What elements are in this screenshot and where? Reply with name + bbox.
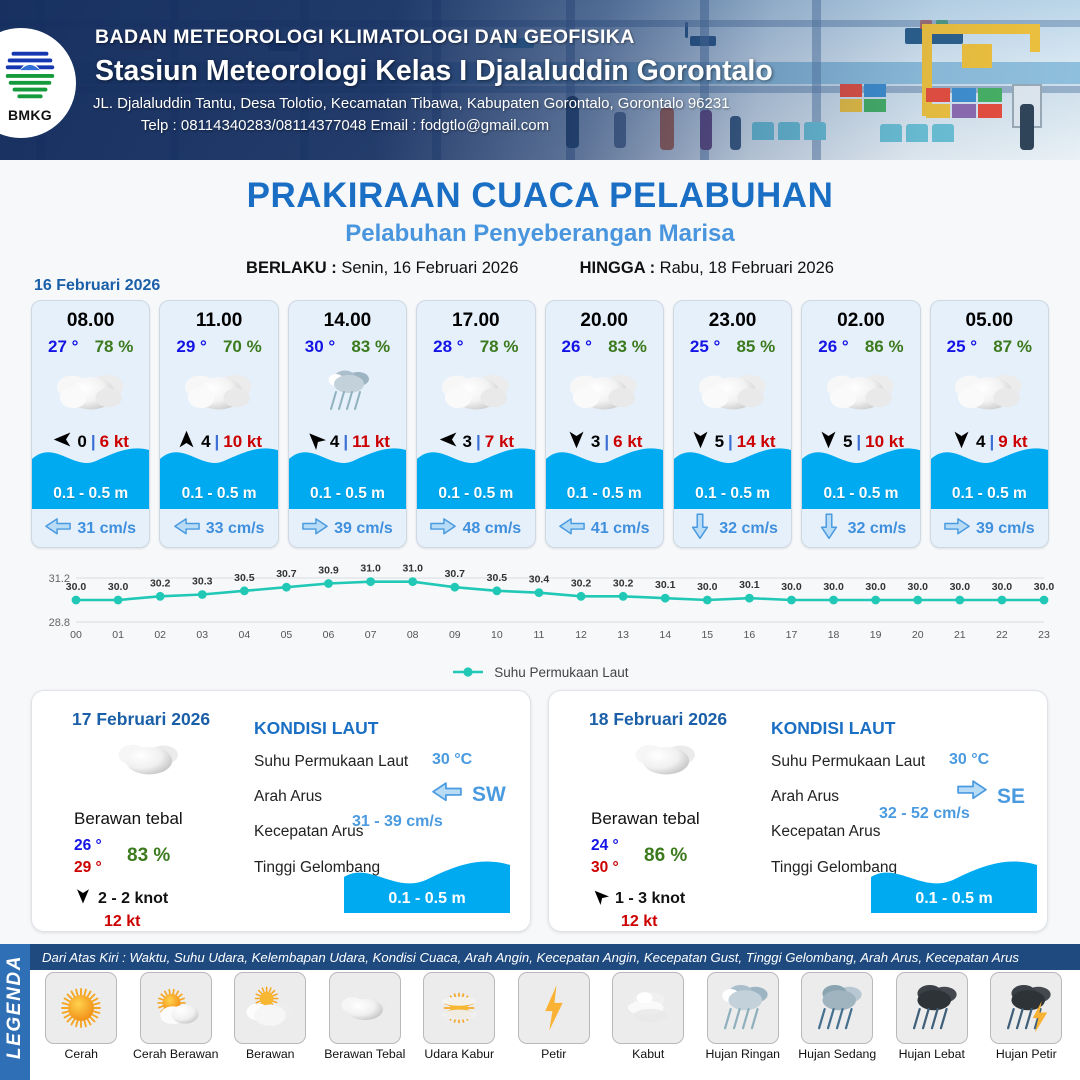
legend-item-label: Hujan Lebat (899, 1047, 965, 1061)
svg-text:30.0: 30.0 (992, 581, 1013, 593)
valid-from-value: Senin, 16 Februari 2026 (341, 259, 518, 277)
legend-band: Dari Atas Kiri : Waktu, Suhu Udara, Kele… (0, 944, 1080, 1080)
card-current-row: 39 cm/s (289, 517, 406, 541)
sea-conditions-header: KONDISI LAUT (771, 718, 895, 739)
page-header: BMKG BADAN METEOROLOGI KLIMATOLOGI DAN G… (0, 0, 1080, 160)
svg-text:30.0: 30.0 (1034, 581, 1054, 593)
panel-temp-max: 30 ° (591, 859, 619, 877)
title-block: PRAKIRAAN CUACA PELABUHAN Pelabuhan Peny… (0, 176, 1080, 278)
panel-wind-range: 2 - 2 knot (98, 890, 168, 908)
forecast-card: 17.00 28 ° 78 % 3 | 7 kt 0.1 - 0.5 m (416, 300, 535, 548)
svg-text:16: 16 (744, 629, 756, 641)
station-contact: Telp : 08114340283/08114377048 Email : f… (35, 117, 655, 134)
sst-label: Suhu Permukaan Laut (254, 753, 408, 771)
forecast-card: 14.00 30 ° 83 % 4 | 11 kt 0.1 - 0.5 m (288, 300, 407, 548)
card-time: 20.00 (546, 310, 663, 332)
chart-legend-label: Suhu Permukaan Laut (494, 665, 628, 680)
wave-graphic: 0.1 - 0.5 m (546, 437, 663, 509)
svg-text:30.4: 30.4 (529, 574, 550, 586)
svg-text:30.2: 30.2 (571, 577, 592, 589)
card-temperature: 28 ° (433, 337, 463, 357)
card-humidity: 87 % (993, 337, 1032, 357)
forecast-card: 05.00 25 ° 87 % 4 | 9 kt 0.1 - 0.5 m (930, 300, 1049, 548)
legend-item: Hujan Lebat (885, 972, 980, 1080)
card-time: 02.00 (802, 310, 919, 332)
svg-text:02: 02 (154, 629, 166, 641)
wind-direction-arrow-icon (74, 887, 92, 910)
chart-legend-marker (451, 666, 485, 681)
page-title: PRAKIRAAN CUACA PELABUHAN (0, 176, 1080, 216)
svg-text:30.0: 30.0 (108, 581, 129, 593)
day-summary-panel: 17 Februari 2026 Berawan tebal 26 ° 29 °… (31, 690, 531, 932)
card-current-row: 32 cm/s (802, 517, 919, 541)
cloudy-icon (546, 364, 663, 418)
svg-text:30.9: 30.9 (318, 565, 339, 577)
svg-text:30.3: 30.3 (192, 576, 213, 588)
legend-item-label: Udara Kabur (424, 1047, 494, 1061)
svg-text:30.7: 30.7 (445, 568, 466, 580)
card-current-speed: 33 cm/s (206, 520, 265, 538)
card-temperature: 26 ° (818, 337, 848, 357)
svg-text:23: 23 (1038, 629, 1050, 641)
card-time: 05.00 (931, 310, 1048, 332)
card-current-speed: 31 cm/s (77, 520, 136, 538)
svg-text:13: 13 (617, 629, 629, 641)
day-summary-panel: 18 Februari 2026 Berawan tebal 24 ° 30 °… (548, 690, 1048, 932)
legend-item-label: Petir (541, 1047, 566, 1061)
legend-item: Hujan Sedang (790, 972, 885, 1080)
legend-item-row: Cerah Cerah Berawan Berawan Berawan Teba… (34, 972, 1074, 1080)
svg-text:30.0: 30.0 (865, 581, 886, 593)
forecast-card: 08.00 27 ° 78 % 0 | 6 kt 0.1 - 0.5 m (31, 300, 150, 548)
panel-wind-row: 2 - 2 knot (74, 887, 168, 910)
wave-graphic: 0.1 - 0.5 m (32, 437, 149, 509)
legend-item-label: Kabut (632, 1047, 664, 1061)
panel-humidity: 83 % (127, 845, 170, 867)
current-direction-value: SE (997, 785, 1025, 809)
forecast-day-label: 16 Februari 2026 (34, 277, 160, 295)
current-direction-arrow-icon (302, 517, 328, 541)
card-humidity: 85 % (736, 337, 775, 357)
card-current-row: 31 cm/s (32, 517, 149, 541)
card-wave-height: 0.1 - 0.5 m (674, 485, 791, 503)
current-direction-arrow-icon (944, 517, 970, 541)
rain-light-icon (707, 972, 779, 1044)
current-direction-arrow-icon (174, 517, 200, 541)
svg-text:30.2: 30.2 (150, 577, 171, 589)
lightning-icon (518, 972, 590, 1044)
svg-text:30.2: 30.2 (613, 577, 634, 589)
sea-conditions-header: KONDISI LAUT (254, 718, 378, 739)
svg-text:00: 00 (70, 629, 82, 641)
current-speed-label: Kecepatan Arus (254, 823, 363, 841)
cloud-sun-partial-icon (234, 972, 306, 1044)
svg-text:15: 15 (701, 629, 713, 641)
cloudy-icon (802, 364, 919, 418)
svg-text:21: 21 (954, 629, 966, 641)
panel-gust: 12 kt (104, 913, 140, 931)
svg-text:28.8: 28.8 (49, 617, 70, 629)
legend-item-label: Berawan Tebal (324, 1047, 405, 1061)
current-speed-value: 32 - 52 cm/s (879, 805, 970, 823)
card-time: 17.00 (417, 310, 534, 332)
svg-text:17: 17 (786, 629, 798, 641)
sun-icon (45, 972, 117, 1044)
valid-until-label: HINGGA : (580, 259, 655, 277)
svg-text:04: 04 (239, 629, 251, 641)
legend-item: Petir (507, 972, 602, 1080)
forecast-card-row: 08.00 27 ° 78 % 0 | 6 kt 0.1 - 0.5 m (31, 300, 1049, 548)
cloudy-icon (674, 364, 791, 418)
svg-text:05: 05 (281, 629, 293, 641)
svg-text:11: 11 (534, 629, 545, 641)
legend-item-label: Hujan Sedang (798, 1047, 876, 1061)
card-current-speed: 39 cm/s (334, 520, 393, 538)
svg-text:30.0: 30.0 (781, 581, 802, 593)
svg-text:30.1: 30.1 (739, 579, 760, 591)
wind-direction-arrow-icon (591, 887, 609, 910)
card-temperature: 25 ° (947, 337, 977, 357)
card-current-speed: 39 cm/s (976, 520, 1035, 538)
fog-icon (612, 972, 684, 1044)
svg-text:03: 03 (196, 629, 208, 641)
card-humidity: 86 % (865, 337, 904, 357)
card-wave-height: 0.1 - 0.5 m (289, 485, 406, 503)
cloudy-icon (417, 364, 534, 418)
current-direction-arrow-icon (957, 779, 987, 805)
card-temperature: 26 ° (562, 337, 592, 357)
current-direction-arrow-icon (687, 517, 713, 541)
panel-date: 18 Februari 2026 (589, 709, 727, 730)
svg-text:18: 18 (828, 629, 840, 641)
card-temperature: 29 ° (176, 337, 206, 357)
legend-item-label: Hujan Ringan (705, 1047, 780, 1061)
card-current-row: 39 cm/s (931, 517, 1048, 541)
legend-item-label: Hujan Petir (996, 1047, 1057, 1061)
card-wave-height: 0.1 - 0.5 m (160, 485, 277, 503)
svg-text:19: 19 (870, 629, 882, 641)
validity-row: BERLAKU : Senin, 16 Februari 2026 HINGGA… (0, 259, 1080, 278)
cloudy-thick-icon (627, 739, 705, 783)
sst-label: Suhu Permukaan Laut (771, 753, 925, 771)
current-direction-arrow-icon (559, 517, 585, 541)
card-humidity: 83 % (351, 337, 390, 357)
rain-heavy-icon (896, 972, 968, 1044)
rain-light-icon (289, 364, 406, 418)
wave-graphic: 0.1 - 0.5 m (674, 437, 791, 509)
thunderstorm-icon (990, 972, 1062, 1044)
card-temperature: 27 ° (48, 337, 78, 357)
panel-condition: Berawan tebal (591, 809, 700, 829)
wave-graphic: 0.1 - 0.5 m (802, 437, 919, 509)
cloudy-thick-icon (110, 739, 188, 783)
svg-text:01: 01 (112, 629, 124, 641)
bmkg-logo-mark (0, 44, 61, 106)
current-direction-arrow-icon (45, 517, 71, 541)
card-wave-height: 0.1 - 0.5 m (32, 485, 149, 503)
card-humidity: 78 % (95, 337, 134, 357)
legend-item: Udara Kabur (412, 972, 507, 1080)
panel-wave-value: 0.1 - 0.5 m (344, 890, 510, 908)
cloudy-icon (931, 364, 1048, 418)
svg-text:08: 08 (407, 629, 419, 641)
legend-item: Berawan Tebal (318, 972, 413, 1080)
card-humidity: 83 % (608, 337, 647, 357)
card-time: 08.00 (32, 310, 149, 332)
sst-line-chart: 31.2 28.8 30.030.030.230.330.530.730.931… (28, 560, 1054, 660)
svg-text:30.7: 30.7 (276, 568, 297, 580)
current-direction-label: Arah Arus (771, 788, 839, 806)
panel-wind-range: 1 - 3 knot (615, 890, 685, 908)
forecast-card: 23.00 25 ° 85 % 5 | 14 kt 0.1 - 0.5 m (673, 300, 792, 548)
cloudy-icon (32, 364, 149, 418)
page-subtitle: Pelabuhan Penyeberangan Marisa (0, 220, 1080, 248)
current-direction-arrow-icon (430, 517, 456, 541)
valid-from-label: BERLAKU : (246, 259, 337, 277)
panel-temp-max: 29 ° (74, 859, 102, 877)
svg-text:30.0: 30.0 (950, 581, 971, 593)
svg-text:30.0: 30.0 (697, 581, 718, 593)
panel-wave-graphic: 0.1 - 0.5 m (871, 855, 1037, 913)
sun-cloud-icon (140, 972, 212, 1044)
card-humidity: 78 % (480, 337, 519, 357)
current-direction-label: Arah Arus (254, 788, 322, 806)
card-current-row: 33 cm/s (160, 517, 277, 541)
haze-icon (423, 972, 495, 1044)
svg-text:09: 09 (449, 629, 461, 641)
panel-condition: Berawan tebal (74, 809, 183, 829)
panel-wave-graphic: 0.1 - 0.5 m (344, 855, 510, 913)
card-temperature: 25 ° (690, 337, 720, 357)
card-time: 23.00 (674, 310, 791, 332)
card-humidity: 70 % (223, 337, 262, 357)
card-current-speed: 32 cm/s (848, 520, 907, 538)
rain-moderate-icon (801, 972, 873, 1044)
svg-text:20: 20 (912, 629, 924, 641)
card-current-row: 48 cm/s (417, 517, 534, 541)
legend-item: Hujan Ringan (696, 972, 791, 1080)
panel-temp-min: 26 ° (74, 837, 102, 855)
current-direction-arrow-icon (816, 517, 842, 541)
panel-date: 17 Februari 2026 (72, 709, 210, 730)
legend-caption: Dari Atas Kiri : Waktu, Suhu Udara, Kele… (30, 944, 1080, 970)
card-current-speed: 32 cm/s (719, 520, 778, 538)
wave-graphic: 0.1 - 0.5 m (931, 437, 1048, 509)
forecast-card: 20.00 26 ° 83 % 3 | 6 kt 0.1 - 0.5 m (545, 300, 664, 548)
card-time: 11.00 (160, 310, 277, 332)
legend-item-label: Berawan (246, 1047, 295, 1061)
sst-value: 30 °C (432, 751, 472, 769)
panel-wind-row: 1 - 3 knot (591, 887, 685, 910)
agency-name: BADAN METEOROLOGI KLIMATOLOGI DAN GEOFIS… (95, 26, 773, 49)
svg-text:22: 22 (996, 629, 1008, 641)
sst-value: 30 °C (949, 751, 989, 769)
forecast-card: 11.00 29 ° 70 % 4 | 10 kt 0.1 - 0.5 m (159, 300, 278, 548)
svg-text:30.1: 30.1 (655, 579, 676, 591)
legend-item: Cerah Berawan (129, 972, 224, 1080)
svg-text:30.0: 30.0 (823, 581, 844, 593)
station-address: JL. Djalaluddin Tantu, Desa Tolotio, Kec… (93, 95, 773, 112)
legend-item: Hujan Petir (979, 972, 1074, 1080)
header-text-block: BADAN METEOROLOGI KLIMATOLOGI DAN GEOFIS… (95, 26, 773, 134)
legend-item: Kabut (601, 972, 696, 1080)
card-wave-height: 0.1 - 0.5 m (802, 485, 919, 503)
legend-item: Cerah (34, 972, 129, 1080)
panel-gust: 12 kt (621, 913, 657, 931)
legend-item: Berawan (223, 972, 318, 1080)
current-speed-value: 31 - 39 cm/s (352, 813, 443, 831)
cloudy-icon (160, 364, 277, 418)
card-wave-height: 0.1 - 0.5 m (546, 485, 663, 503)
card-current-row: 32 cm/s (674, 517, 791, 541)
panel-temp-min: 24 ° (591, 837, 619, 855)
sst-chart: 31.2 28.8 30.030.030.230.330.530.730.931… (28, 560, 1054, 660)
card-time: 14.00 (289, 310, 406, 332)
svg-text:12: 12 (575, 629, 587, 641)
wave-graphic: 0.1 - 0.5 m (160, 437, 277, 509)
svg-text:30.5: 30.5 (234, 572, 255, 584)
svg-text:06: 06 (323, 629, 335, 641)
current-direction-value: SW (472, 783, 506, 807)
card-current-speed: 48 cm/s (462, 520, 521, 538)
legend-item-label: Cerah Berawan (133, 1047, 218, 1061)
current-direction-arrow-icon (432, 781, 462, 807)
forecast-card: 02.00 26 ° 86 % 5 | 10 kt 0.1 - 0.5 m (801, 300, 920, 548)
panel-humidity: 86 % (644, 845, 687, 867)
legend-item-label: Cerah (65, 1047, 99, 1061)
svg-text:30.0: 30.0 (66, 581, 87, 593)
svg-text:14: 14 (659, 629, 671, 641)
wave-graphic: 0.1 - 0.5 m (417, 437, 534, 509)
valid-until-value: Rabu, 18 Februari 2026 (660, 259, 834, 277)
panel-wave-value: 0.1 - 0.5 m (871, 890, 1037, 908)
card-wave-height: 0.1 - 0.5 m (931, 485, 1048, 503)
svg-text:30.0: 30.0 (908, 581, 929, 593)
card-wave-height: 0.1 - 0.5 m (417, 485, 534, 503)
station-name: Stasiun Meteorologi Kelas I Djalaluddin … (95, 55, 773, 88)
wave-graphic: 0.1 - 0.5 m (289, 437, 406, 509)
svg-text:31.0: 31.0 (402, 563, 423, 575)
card-current-speed: 41 cm/s (591, 520, 650, 538)
cloud-thick-icon (329, 972, 401, 1044)
svg-text:31.0: 31.0 (360, 563, 381, 575)
svg-text:30.5: 30.5 (487, 572, 508, 584)
card-current-row: 41 cm/s (546, 517, 663, 541)
legend-tab-label: LEGENDA (4, 954, 26, 1060)
card-temperature: 30 ° (305, 337, 335, 357)
chart-legend: Suhu Permukaan Laut (0, 665, 1080, 681)
svg-text:07: 07 (365, 629, 377, 641)
svg-text:10: 10 (491, 629, 503, 641)
legend-tab: LEGENDA (0, 944, 30, 1080)
current-speed-label: Kecepatan Arus (771, 823, 880, 841)
